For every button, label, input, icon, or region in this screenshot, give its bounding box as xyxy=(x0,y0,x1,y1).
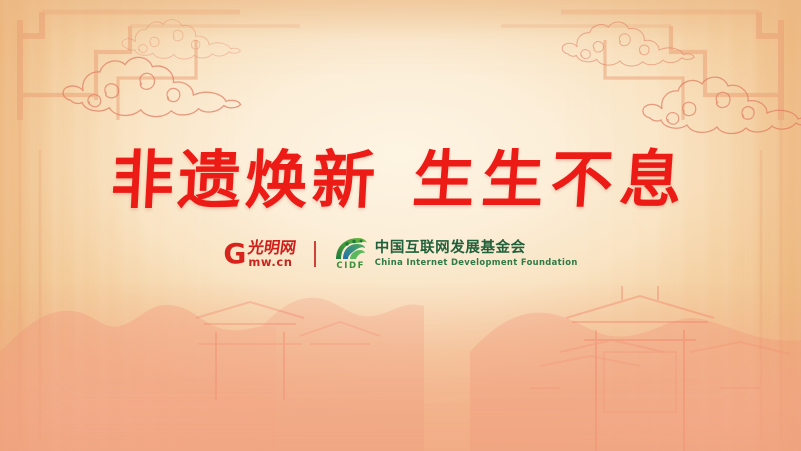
gmw-logo[interactable]: G 光明网 mw.cn xyxy=(223,240,296,269)
logo-bar: G 光明网 mw.cn xyxy=(0,234,801,274)
poster-title: 非遗焕新 生生不息 xyxy=(0,132,801,228)
illustration-fade-overlay xyxy=(0,281,801,451)
gmw-g-mark: G xyxy=(223,241,245,266)
cidf-abbreviation: CIDF xyxy=(336,262,365,271)
title-line-a: 非遗焕新 xyxy=(110,149,381,212)
poster-canvas: 非遗焕新 生生不息 G 光明网 mw.cn xyxy=(0,0,801,451)
cidf-logo[interactable]: CIDF 中国互联网发展基金会 China Internet Developme… xyxy=(334,237,578,271)
gmw-chinese-name: 光明网 xyxy=(247,240,297,256)
cidf-english-name: China Internet Development Foundation xyxy=(375,258,578,267)
title-line-b: 生生不息 xyxy=(411,149,691,211)
cidf-network-fan-icon: CIDF xyxy=(334,237,368,271)
cidf-chinese-name: 中国互联网发展基金会 xyxy=(375,241,578,256)
gmw-domain-text: mw.cn xyxy=(248,257,292,269)
logo-divider xyxy=(314,241,315,267)
